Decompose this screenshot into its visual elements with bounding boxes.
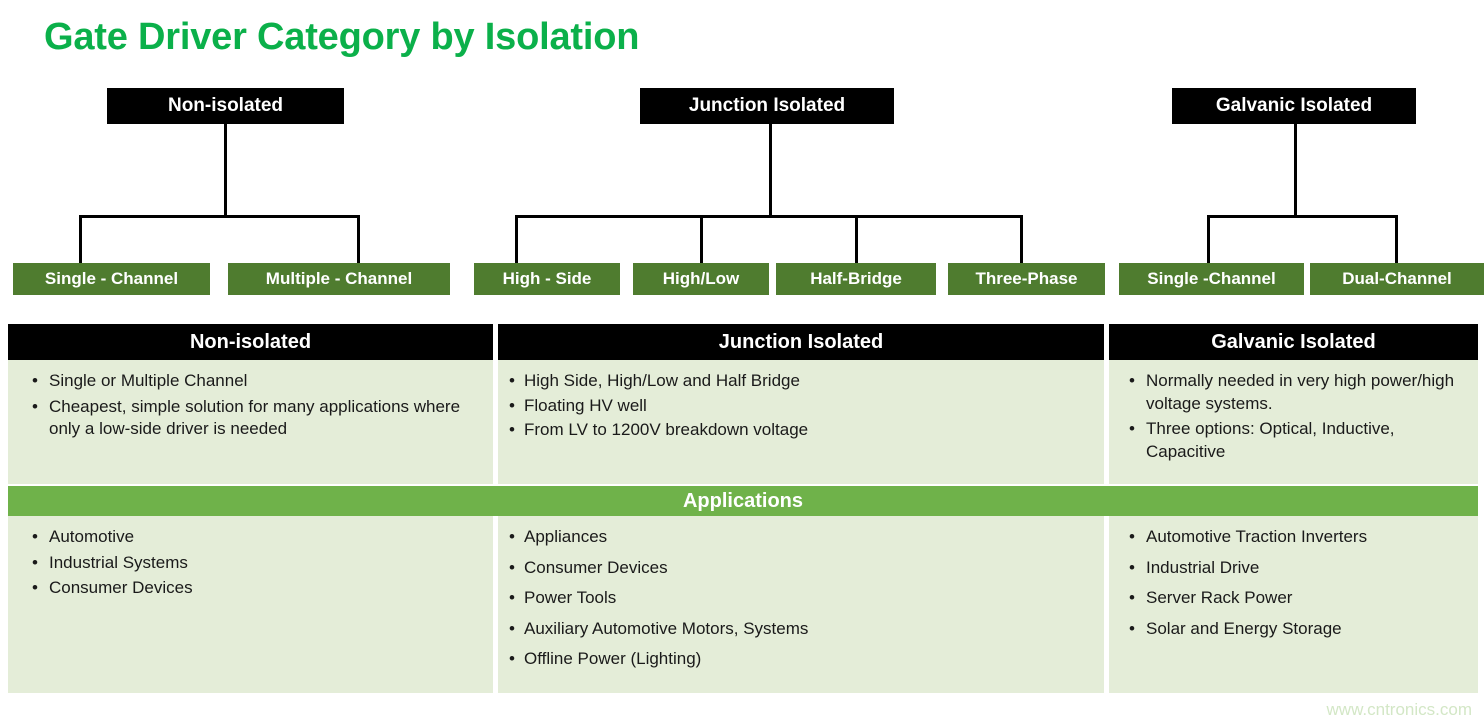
list-item: Industrial Drive xyxy=(1124,557,1466,580)
features-list: Single or Multiple Channel Cheapest, sim… xyxy=(26,370,479,441)
connector-trunk-galvanic-isolated xyxy=(1294,124,1297,215)
table-header-non-isolated: Non-isolated xyxy=(8,324,493,360)
list-item: Offline Power (Lighting) xyxy=(508,648,1090,671)
connector-stub-dual-channel xyxy=(1395,215,1398,263)
leaf-box-single-channel-galvanic[interactable]: Single -Channel xyxy=(1119,263,1304,295)
applications-list: Automotive Industrial Systems Consumer D… xyxy=(26,526,479,600)
list-item: Auxiliary Automotive Motors, Systems xyxy=(508,618,1090,641)
list-item: Consumer Devices xyxy=(26,577,479,600)
comparison-table: Non-isolated Junction Isolated Galvanic … xyxy=(8,324,1478,693)
table-features-row: Single or Multiple Channel Cheapest, sim… xyxy=(8,360,1478,484)
list-item: Appliances xyxy=(508,526,1090,549)
features-list: Normally needed in very high power/high … xyxy=(1124,370,1466,463)
leaf-box-three-phase[interactable]: Three-Phase xyxy=(948,263,1105,295)
list-item: Industrial Systems xyxy=(26,552,479,575)
list-item: Single or Multiple Channel xyxy=(26,370,479,393)
list-item: From LV to 1200V breakdown voltage xyxy=(508,419,1090,442)
table-header-galvanic-isolated: Galvanic Isolated xyxy=(1109,324,1478,360)
list-item: Consumer Devices xyxy=(508,557,1090,580)
leaf-box-label: Single -Channel xyxy=(1147,269,1275,289)
applications-band: Applications xyxy=(8,486,1478,516)
leaf-box-single-channel[interactable]: Single - Channel xyxy=(13,263,210,295)
connector-stub-multiple-channel xyxy=(357,215,360,263)
list-item: Cheapest, simple solution for many appli… xyxy=(26,396,479,441)
leaf-box-label: Three-Phase xyxy=(975,269,1077,289)
leaf-box-label: High - Side xyxy=(503,269,592,289)
leaf-box-multiple-channel[interactable]: Multiple - Channel xyxy=(228,263,450,295)
leaf-box-dual-channel[interactable]: Dual-Channel xyxy=(1310,263,1484,295)
category-box-junction-isolated[interactable]: Junction Isolated xyxy=(640,88,894,124)
features-cell-galvanic-isolated: Normally needed in very high power/high … xyxy=(1109,360,1478,484)
leaf-box-label: Half-Bridge xyxy=(810,269,902,289)
connector-stub-single-channel-galvanic xyxy=(1207,215,1210,263)
list-item: Solar and Energy Storage xyxy=(1124,618,1466,641)
category-box-label: Junction Isolated xyxy=(689,95,845,117)
leaf-box-high-side[interactable]: High - Side xyxy=(474,263,620,295)
connector-stub-single-channel xyxy=(79,215,82,263)
list-item: High Side, High/Low and Half Bridge xyxy=(508,370,1090,393)
table-header-row: Non-isolated Junction Isolated Galvanic … xyxy=(8,324,1478,360)
table-applications-row: Automotive Industrial Systems Consumer D… xyxy=(8,516,1478,693)
category-box-label: Galvanic Isolated xyxy=(1216,95,1372,117)
applications-cell-galvanic-isolated: Automotive Traction Inverters Industrial… xyxy=(1109,516,1478,693)
connector-bar-junction-isolated xyxy=(515,215,1023,218)
leaf-box-high-low[interactable]: High/Low xyxy=(633,263,769,295)
list-item: Power Tools xyxy=(508,587,1090,610)
applications-list: Automotive Traction Inverters Industrial… xyxy=(1124,526,1466,640)
list-item: Automotive xyxy=(26,526,479,549)
table-header-junction-isolated: Junction Isolated xyxy=(498,324,1104,360)
category-box-galvanic-isolated[interactable]: Galvanic Isolated xyxy=(1172,88,1416,124)
leaf-box-label: Single - Channel xyxy=(45,269,178,289)
connector-bar-non-isolated xyxy=(79,215,360,218)
category-box-non-isolated[interactable]: Non-isolated xyxy=(107,88,344,124)
leaf-box-label: Multiple - Channel xyxy=(266,269,412,289)
list-item: Floating HV well xyxy=(508,395,1090,418)
connector-trunk-junction-isolated xyxy=(769,124,772,215)
features-list: High Side, High/Low and Half Bridge Floa… xyxy=(508,370,1090,442)
list-item: Three options: Optical, Inductive, Capac… xyxy=(1124,418,1466,463)
connector-stub-high-side xyxy=(515,215,518,263)
category-box-label: Non-isolated xyxy=(168,95,283,117)
leaf-box-half-bridge[interactable]: Half-Bridge xyxy=(776,263,936,295)
leaf-box-label: High/Low xyxy=(663,269,739,289)
connector-trunk-non-isolated xyxy=(224,124,227,215)
features-cell-non-isolated: Single or Multiple Channel Cheapest, sim… xyxy=(8,360,493,484)
applications-cell-junction-isolated: Appliances Consumer Devices Power Tools … xyxy=(498,516,1104,693)
applications-list: Appliances Consumer Devices Power Tools … xyxy=(508,526,1090,671)
connector-stub-three-phase xyxy=(1020,215,1023,263)
list-item: Normally needed in very high power/high … xyxy=(1124,370,1466,415)
connector-stub-half-bridge xyxy=(855,215,858,263)
leaf-box-label: Dual-Channel xyxy=(1342,269,1452,289)
features-cell-junction-isolated: High Side, High/Low and Half Bridge Floa… xyxy=(498,360,1104,484)
connector-bar-galvanic-isolated xyxy=(1207,215,1398,218)
list-item: Automotive Traction Inverters xyxy=(1124,526,1466,549)
watermark: www.cntronics.com xyxy=(1327,700,1472,720)
list-item: Server Rack Power xyxy=(1124,587,1466,610)
hierarchy-diagram: Non-isolated Single - Channel Multiple -… xyxy=(0,0,1484,310)
applications-cell-non-isolated: Automotive Industrial Systems Consumer D… xyxy=(8,516,493,693)
connector-stub-high-low xyxy=(700,215,703,263)
